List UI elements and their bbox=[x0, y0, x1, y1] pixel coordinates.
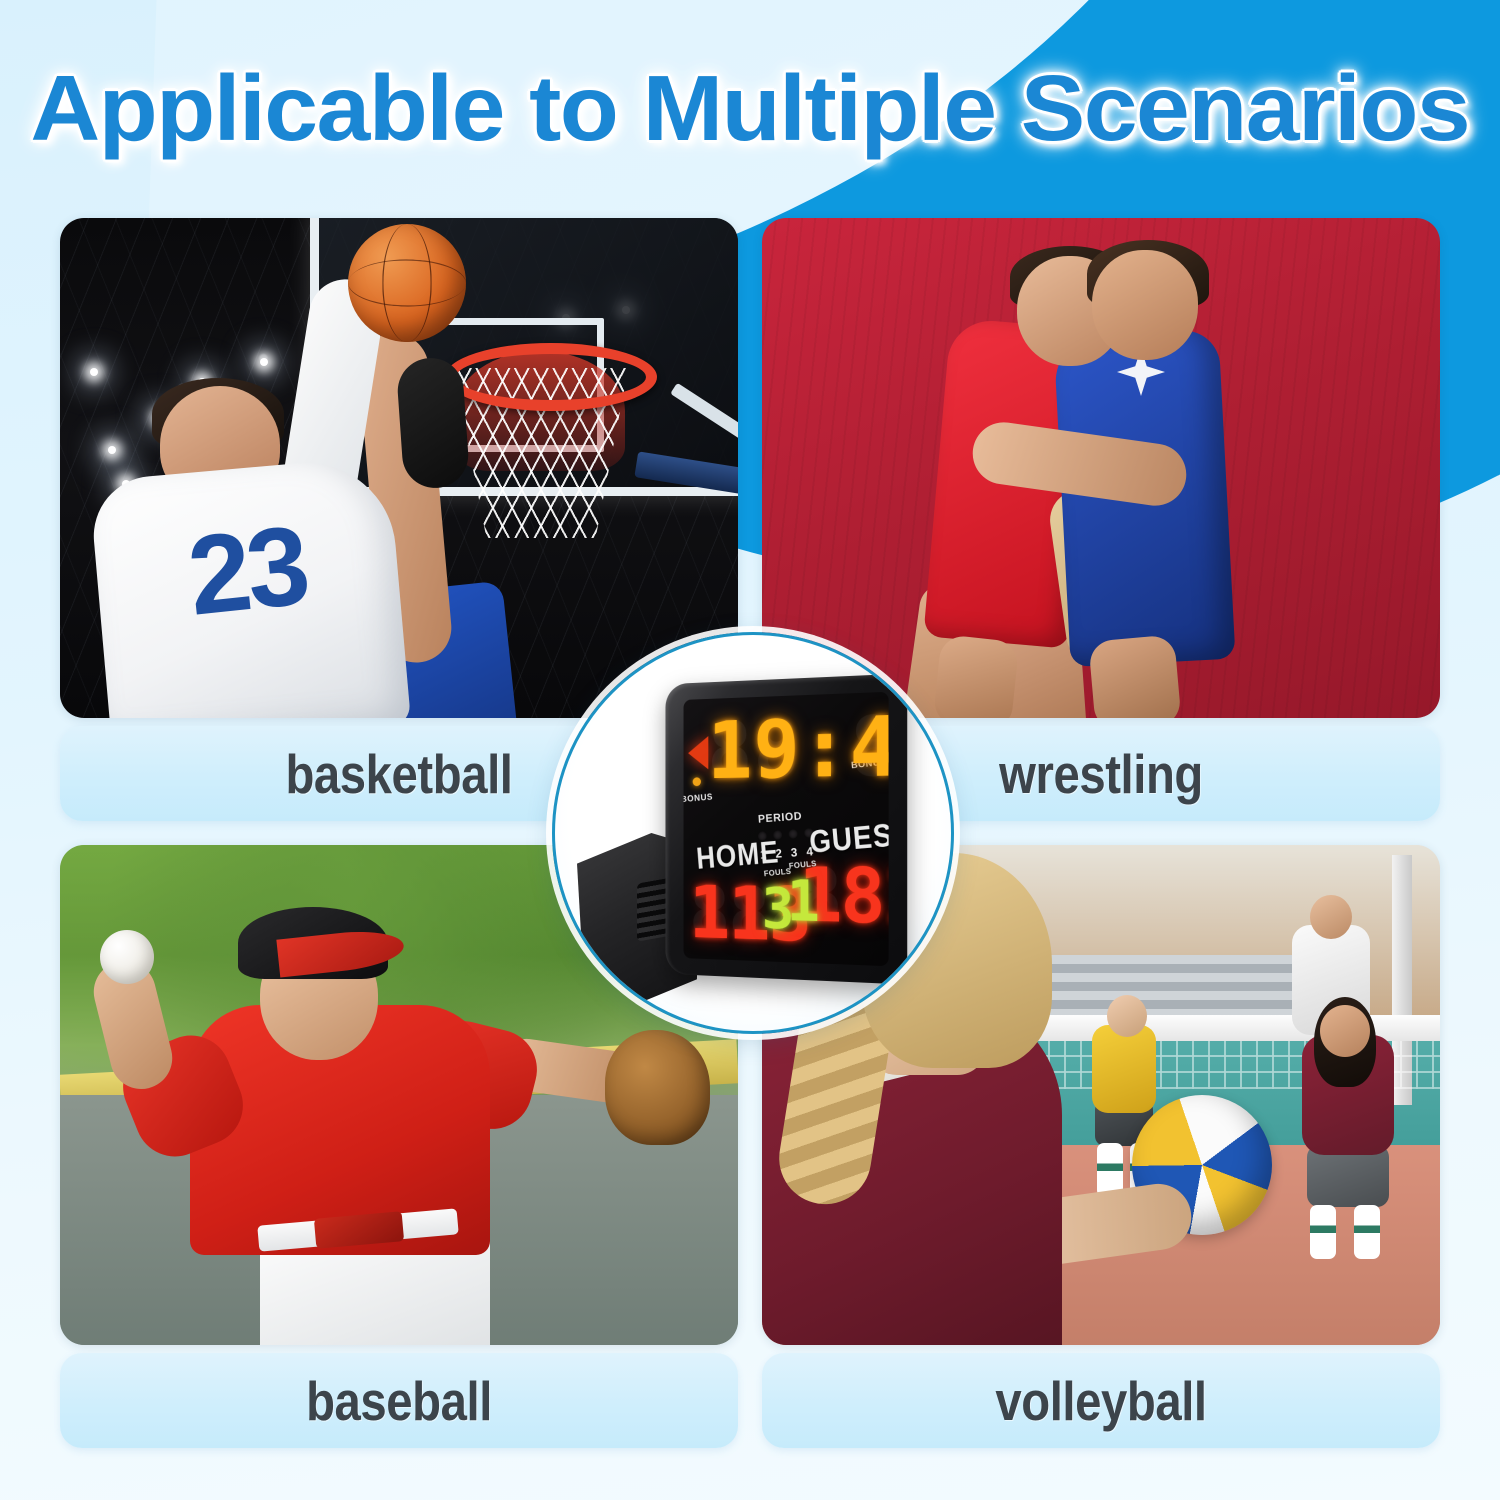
scoreboard-body: BONUS BONUS 88:88 19:44 PERIOD bbox=[665, 673, 907, 984]
wrestler-blue-head bbox=[1092, 250, 1198, 360]
baseball-glove-icon bbox=[605, 1030, 710, 1145]
period-led-3 bbox=[788, 829, 797, 839]
arena-light-icon bbox=[90, 368, 98, 376]
yellow-player-head bbox=[1107, 995, 1147, 1037]
arm-sleeve bbox=[396, 356, 471, 490]
basketball-rim bbox=[445, 343, 657, 411]
yellow-player-jersey bbox=[1092, 1025, 1156, 1113]
arena-light-icon bbox=[108, 446, 116, 454]
caption-label-volleyball: volleyball bbox=[809, 1369, 1392, 1433]
player-sock bbox=[1310, 1205, 1336, 1259]
product-callout-circle: BONUS BONUS 88:88 19:44 PERIOD bbox=[552, 632, 954, 1034]
caption-panel-volleyball: volleyball bbox=[762, 1353, 1440, 1448]
bonus-indicator-led bbox=[693, 777, 701, 786]
caption-panel-baseball: baseball bbox=[60, 1353, 738, 1448]
caption-label-baseball: baseball bbox=[107, 1369, 690, 1433]
maroon-player-head bbox=[1320, 1005, 1370, 1057]
promo-banner: Applicable to Multiple Scenarios bbox=[0, 0, 1500, 1500]
wrestling-match-photo bbox=[762, 218, 1440, 718]
period-label: PERIOD bbox=[758, 810, 803, 825]
basketball-dunk-photo: 23 bbox=[60, 218, 738, 718]
scoreboard-led-screen: BONUS BONUS 88:88 19:44 PERIOD bbox=[684, 692, 889, 966]
clock-value: 19:44 bbox=[707, 704, 888, 791]
baseball-icon bbox=[100, 930, 154, 984]
arena-light-icon bbox=[260, 358, 268, 366]
page-title: Applicable to Multiple Scenarios bbox=[0, 62, 1500, 155]
jersey-number: 23 bbox=[146, 496, 348, 644]
game-clock: 88:88 19:44 bbox=[707, 706, 882, 804]
basketball-icon bbox=[348, 224, 466, 342]
guest-fouls-value: 1 bbox=[787, 874, 820, 931]
player-sock bbox=[1354, 1205, 1380, 1259]
page-title-text: Applicable to Multiple Scenarios bbox=[31, 62, 1470, 155]
coach-head bbox=[1310, 895, 1352, 939]
wrestler-leg bbox=[1088, 634, 1182, 718]
wrestler-leg bbox=[933, 634, 1020, 718]
possession-arrow-icon bbox=[688, 736, 708, 770]
portable-multisport-scoreboard: BONUS BONUS 88:88 19:44 PERIOD bbox=[597, 673, 917, 991]
